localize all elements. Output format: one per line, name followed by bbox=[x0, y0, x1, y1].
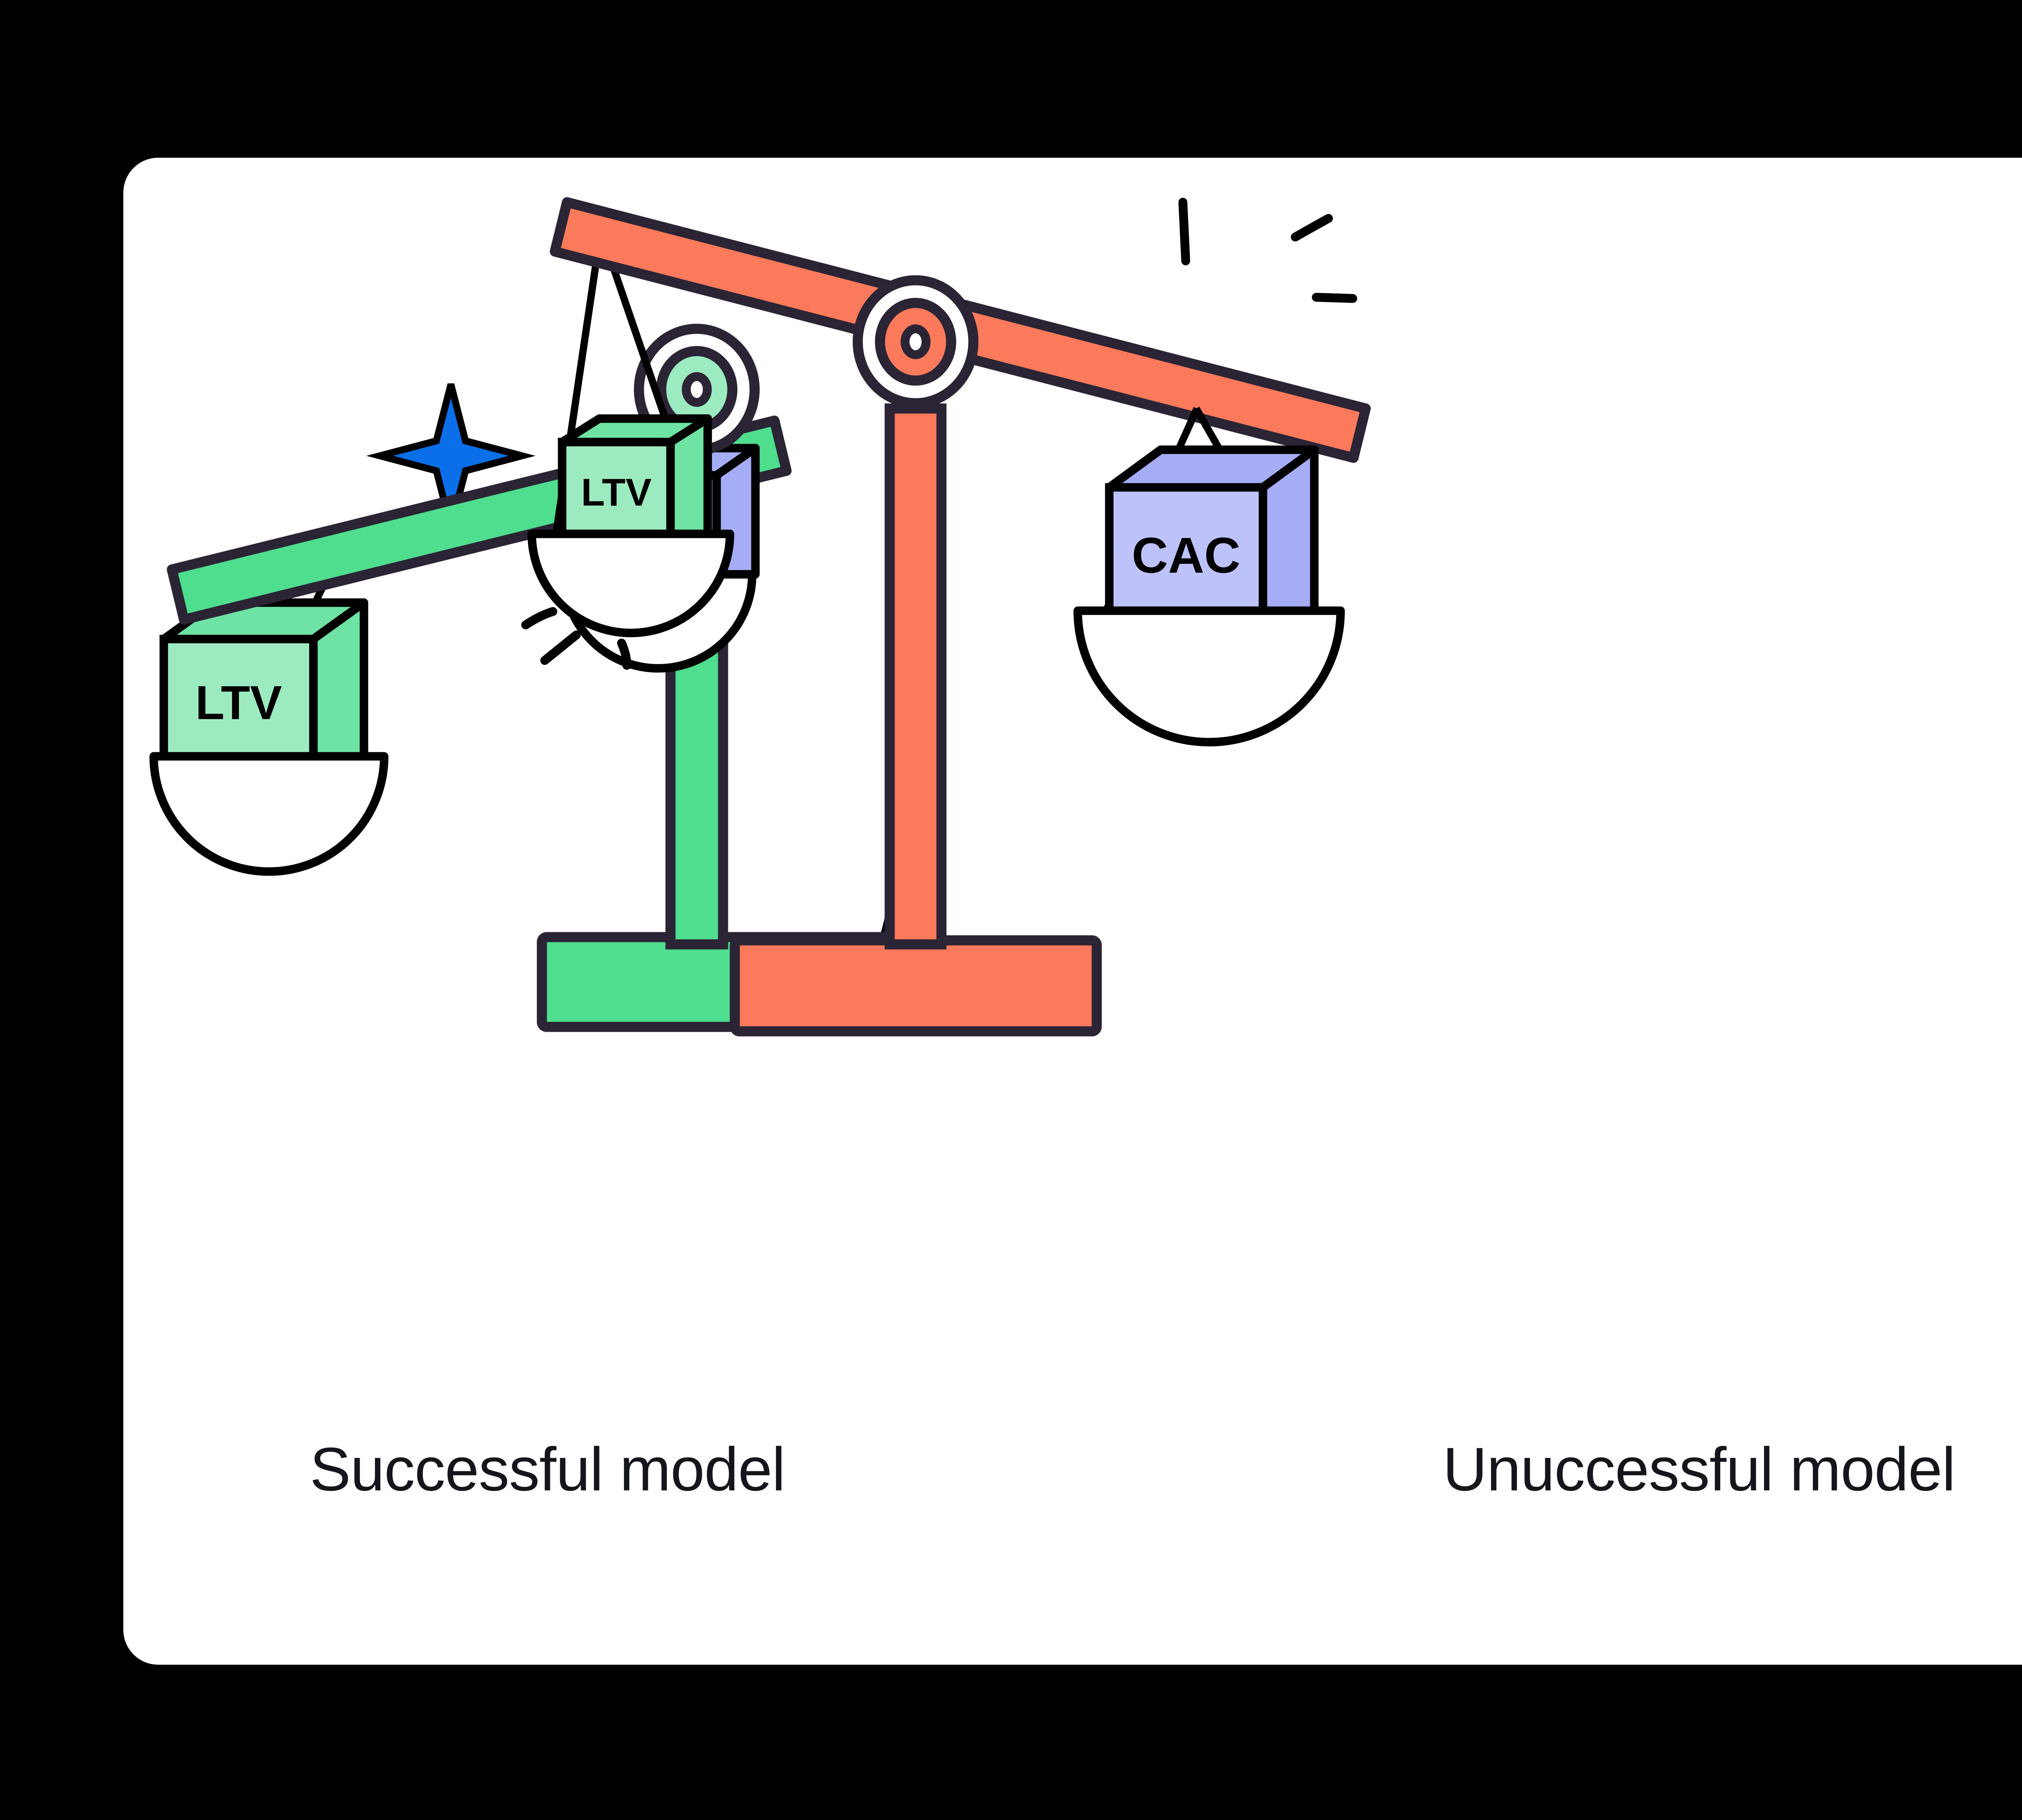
scale-column-orange bbox=[890, 408, 941, 944]
ltv-box-right-label: LTV bbox=[581, 471, 651, 514]
pan-right-orange: CAC bbox=[1078, 408, 1341, 742]
caption-successful: Successful model bbox=[123, 1436, 1166, 1503]
motion-lines-top bbox=[1183, 202, 1353, 298]
ltv-box-right: LTV bbox=[562, 419, 708, 534]
cac-box-right-label: CAC bbox=[1132, 528, 1241, 584]
scale-successful: LTV bbox=[154, 329, 947, 1027]
caption-row: Successful model Unuccessful model bbox=[123, 1436, 2022, 1503]
scale-unsuccessful: LTV bbox=[526, 202, 1366, 1031]
pivot-orange bbox=[858, 280, 973, 403]
modal-dialog: LTV bbox=[123, 158, 2022, 1665]
ltv-box-left: LTV bbox=[164, 603, 364, 756]
screen-root: LTV bbox=[0, 0, 2022, 1820]
scale-base-orange bbox=[735, 940, 1097, 1031]
caption-unsuccessful: Unuccessful model bbox=[1166, 1436, 2022, 1503]
ltv-box-left-label: LTV bbox=[195, 676, 282, 730]
cac-box-right: CAC bbox=[1109, 450, 1314, 611]
